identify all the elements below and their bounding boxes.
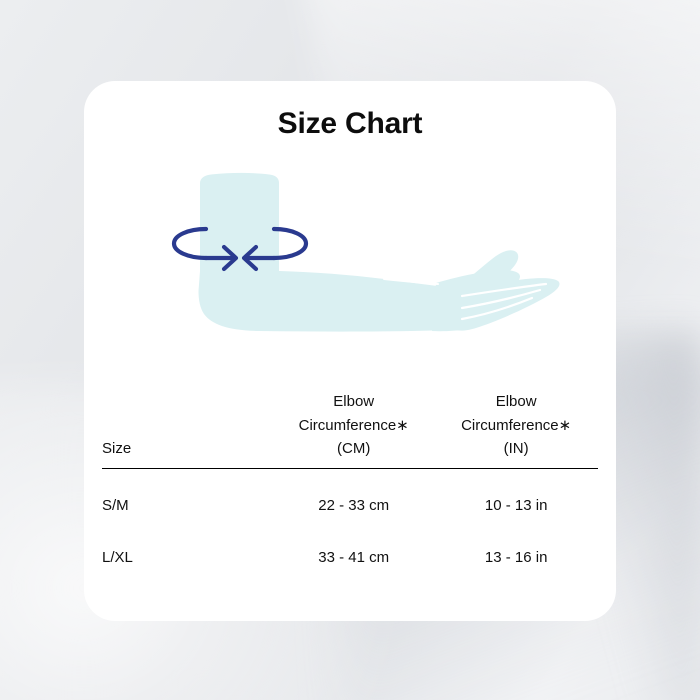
- column-header-cm-line3: (CM): [273, 437, 434, 461]
- cell-size: L/XL: [102, 531, 273, 583]
- column-header-in-line1: Elbow: [434, 390, 598, 414]
- column-header-cm: Elbow Circumference∗ (CM): [273, 390, 434, 469]
- column-header-in-line2: Circumference∗: [434, 414, 598, 438]
- cell-in-range: 13 - 16 in: [434, 531, 598, 583]
- table-header-row: Size Elbow Circumference∗ (CM) Elbow Cir…: [102, 390, 598, 469]
- column-header-in-line3: (IN): [434, 437, 598, 461]
- cell-cm-range: 22 - 33 cm: [273, 469, 434, 532]
- cell-in-range: 10 - 13 in: [434, 469, 598, 532]
- table-row: L/XL 33 - 41 cm 13 - 16 in: [102, 531, 598, 583]
- column-header-size-line3: Size: [102, 437, 273, 461]
- forearm: [199, 271, 471, 332]
- elbow-measurement-illustration: [84, 171, 616, 371]
- column-header-in: Elbow Circumference∗ (IN): [434, 390, 598, 469]
- table-row: S/M 22 - 33 cm 10 - 13 in: [102, 469, 598, 532]
- cell-cm-range: 33 - 41 cm: [273, 531, 434, 583]
- page-title: Size Chart: [84, 107, 616, 141]
- screenshot-canvas: Size Chart: [0, 0, 700, 700]
- size-table: Size Elbow Circumference∗ (CM) Elbow Cir…: [102, 390, 598, 583]
- column-header-cm-line1: Elbow: [273, 390, 434, 414]
- size-chart-card: Size Chart: [84, 81, 616, 621]
- column-header-cm-line2: Circumference∗: [273, 414, 434, 438]
- cell-size: S/M: [102, 469, 273, 532]
- column-header-size: Size: [102, 390, 273, 469]
